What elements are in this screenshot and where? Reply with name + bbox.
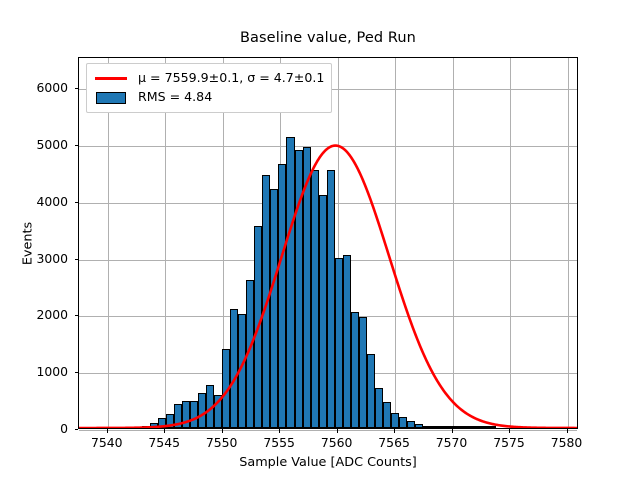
x-tick-label: 7550 (192, 435, 252, 450)
x-tick-label: 7565 (364, 435, 424, 450)
y-tick-label: 5000 (8, 137, 68, 152)
x-tick-label: 7560 (307, 435, 367, 450)
x-axis-tick (164, 429, 165, 433)
x-tick-label: 7580 (537, 435, 597, 450)
x-axis-tick (394, 429, 395, 433)
y-axis-tick (75, 259, 79, 260)
x-axis-tick (509, 429, 510, 433)
legend-line-swatch (93, 72, 129, 86)
x-tick-label: 7570 (422, 435, 482, 450)
x-tick-label: 7555 (249, 435, 309, 450)
legend-label-fit: μ = 7559.9±0.1, σ = 4.7±0.1 (138, 72, 324, 85)
y-axis-tick (75, 372, 79, 373)
y-axis-label: Events (21, 194, 36, 294)
y-tick-label: 3000 (8, 251, 68, 266)
y-axis-tick (75, 88, 79, 89)
x-axis-tick (107, 429, 108, 433)
x-axis-tick (567, 429, 568, 433)
y-tick-label: 4000 (8, 194, 68, 209)
legend-item-rms: RMS = 4.84 (93, 88, 324, 107)
y-tick-label: 6000 (8, 80, 68, 95)
x-axis-tick (452, 429, 453, 433)
gaussian-fit-curve (79, 58, 577, 428)
gridline-horizontal (79, 430, 577, 431)
chart-title: Baseline value, Ped Run (78, 30, 578, 46)
y-axis-tick (75, 202, 79, 203)
x-tick-label: 7545 (134, 435, 194, 450)
legend-label-rms: RMS = 4.84 (138, 91, 212, 104)
chart-legend[interactable]: μ = 7559.9±0.1, σ = 4.7±0.1 RMS = 4.84 (86, 63, 332, 113)
y-axis-tick (75, 315, 79, 316)
x-axis-tick (222, 429, 223, 433)
y-tick-label: 2000 (8, 307, 68, 322)
x-tick-label: 7575 (479, 435, 539, 450)
x-axis-tick (279, 429, 280, 433)
legend-patch-swatch (93, 91, 129, 105)
x-tick-label: 7540 (77, 435, 137, 450)
y-axis-tick (75, 145, 79, 146)
y-tick-label: 0 (8, 421, 68, 436)
x-axis-tick (337, 429, 338, 433)
y-axis-tick (75, 429, 79, 430)
chart-figure: Baseline value, Ped Run 7540754575507555… (0, 0, 640, 480)
x-axis-label: Sample Value [ADC Counts] (78, 455, 578, 470)
y-tick-label: 1000 (8, 364, 68, 379)
legend-item-fit: μ = 7559.9±0.1, σ = 4.7±0.1 (93, 69, 324, 88)
